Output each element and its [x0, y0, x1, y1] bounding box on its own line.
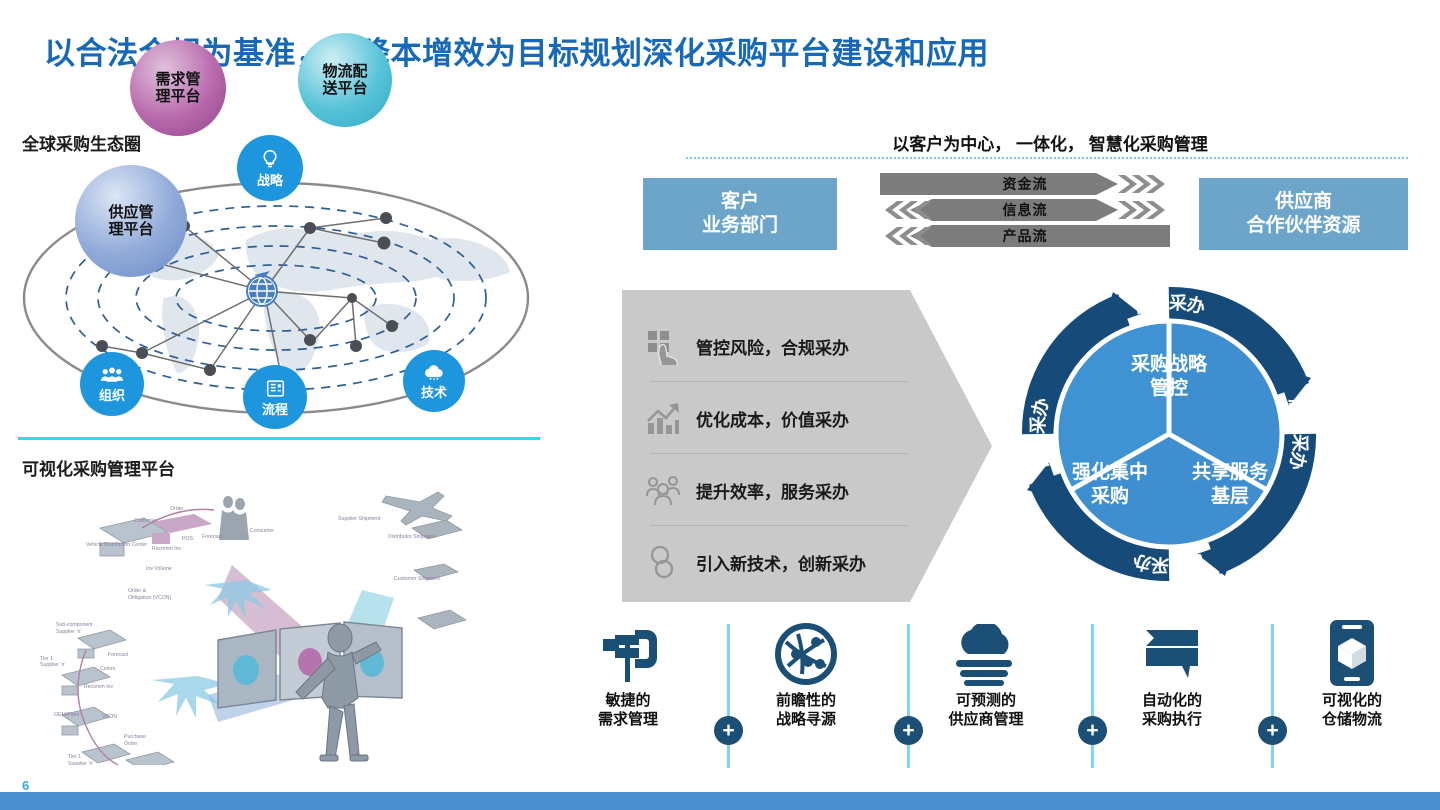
- plus-icon: +: [1078, 716, 1107, 745]
- bubble-line1: 供应管: [108, 204, 153, 221]
- svg-text:Obligation (VCON): Obligation (VCON): [128, 595, 172, 601]
- wheel-outer-label-bottom: 创新采办: [1131, 551, 1208, 577]
- svg-text:Sub-component: Sub-component: [56, 622, 93, 628]
- eco-node-strategy[interactable]: 战略: [237, 135, 303, 201]
- customer-line1: 客户: [721, 190, 759, 214]
- capability-separator: +: [888, 624, 928, 768]
- plug-connect-icon: [595, 612, 661, 686]
- wheel-seg-left-line2: 采购: [1091, 484, 1129, 507]
- footer-bar: [0, 792, 1440, 810]
- capability-label: 可预测的供应商管理: [948, 692, 1023, 730]
- flow-row-product: 产品流: [880, 225, 1170, 247]
- visual-platform-diagram: Order Customer Consumer Forecast POS Veh…: [22, 470, 542, 765]
- plus-icon: +: [894, 716, 923, 745]
- people-group-icon: [644, 471, 682, 509]
- flow-arrows-group: 资金流 信息流: [880, 172, 1170, 252]
- linked-circles-icon: [644, 543, 682, 581]
- capability-label: 自动化的采购执行: [1142, 692, 1202, 730]
- procurement-wheel-diagram: 合规采办 创新采办 服务采办 价值采办 采购战略 管控 强化集中 采购 共享服务: [993, 258, 1345, 610]
- goal-item[interactable]: 提升效率，服务采办: [644, 454, 914, 526]
- svg-text:Customer: Customer: [134, 518, 157, 524]
- svg-text:Order &: Order &: [128, 588, 147, 594]
- svg-text:Supplier 'n': Supplier 'n': [40, 662, 65, 668]
- plus-icon: +: [714, 716, 743, 745]
- svg-text:Customer Shipment: Customer Shipment: [394, 576, 440, 582]
- goal-text: 管控风险，合规采办: [696, 334, 849, 359]
- procurement-goals-panel: 管控风险，合规采办 优化成本，价值采办 提升效率，服务: [622, 290, 992, 602]
- cloud-icon: [423, 364, 445, 383]
- separator-line: [907, 624, 910, 768]
- supplier-line1: 供应商: [1275, 190, 1332, 214]
- page-number: 6: [22, 778, 29, 793]
- svg-text:POS: POS: [182, 536, 193, 542]
- visual-platform-svg: Order Customer Consumer Forecast POS Veh…: [22, 470, 542, 765]
- capability-item[interactable]: 敏捷的需求管理: [564, 612, 692, 772]
- flow-label: 信息流: [880, 199, 1170, 221]
- eco-node-technology[interactable]: 技术: [403, 350, 465, 412]
- svg-text:Consumer: Consumer: [250, 528, 274, 534]
- capability-separator: +: [1072, 624, 1112, 768]
- svg-text:Tier 1: Tier 1: [68, 754, 81, 760]
- capability-label: 敏捷的需求管理: [598, 692, 658, 730]
- right-section-divider: [686, 157, 1408, 159]
- eco-node-label: 流程: [262, 403, 288, 416]
- separator-line: [727, 624, 730, 768]
- click-grid-icon: [644, 327, 682, 365]
- svg-text:Forecast: Forecast: [108, 652, 129, 658]
- separator-line: [1091, 624, 1094, 768]
- svg-text:Supplier 'n': Supplier 'n': [56, 629, 81, 635]
- globe-network-icon: [774, 612, 838, 686]
- separator-line: [1271, 624, 1274, 768]
- bubble-logistics-platform[interactable]: 物流配 送平台: [298, 33, 392, 127]
- svg-text:Purchase: Purchase: [124, 734, 146, 740]
- capabilities-row: 敏捷的需求管理 前瞻性的战略寻源: [560, 612, 1420, 772]
- bubble-line2: 送平台: [322, 80, 367, 97]
- eco-node-label: 组织: [99, 389, 125, 402]
- lightbulb-icon: [260, 149, 280, 171]
- chat-exchange-icon: [1138, 612, 1206, 686]
- svg-text:Vehicle Distribution Center: Vehicle Distribution Center: [86, 542, 147, 548]
- bubble-demand-platform[interactable]: 需求管 理平台: [130, 40, 226, 136]
- customer-box[interactable]: 客户 业务部门: [643, 178, 837, 250]
- supplier-line2: 合作伙伴资源: [1246, 214, 1360, 238]
- customer-line2: 业务部门: [702, 214, 778, 238]
- goal-text: 提升效率，服务采办: [696, 478, 849, 503]
- bubble-line2: 理平台: [155, 88, 200, 105]
- document-icon: [266, 379, 285, 400]
- supply-chain-nodes: [62, 518, 174, 765]
- svg-text:Recomm Inv: Recomm Inv: [84, 684, 114, 690]
- goal-text: 引入新技术，创新采办: [696, 550, 866, 575]
- wheel-seg-top-line2: 管控: [1150, 376, 1188, 399]
- goal-item[interactable]: 优化成本，价值采办: [644, 382, 914, 454]
- plus-icon: +: [1258, 716, 1287, 745]
- goal-item[interactable]: 引入新技术，创新采办: [644, 526, 914, 598]
- svg-text:Recomm Inv: Recomm Inv: [152, 546, 182, 552]
- svg-text:VCON: VCON: [102, 714, 117, 720]
- bubble-line2: 理平台: [108, 221, 153, 238]
- capability-separator: +: [708, 624, 748, 768]
- svg-text:Forecast: Forecast: [202, 534, 223, 540]
- svg-text:Order: Order: [124, 741, 138, 747]
- svg-text:Order: Order: [170, 506, 184, 512]
- consumer-figures: [219, 496, 249, 540]
- capability-item[interactable]: 前瞻性的战略寻源: [742, 612, 870, 772]
- eco-node-organization[interactable]: 组织: [80, 352, 144, 416]
- capability-item[interactable]: 可预测的供应商管理: [922, 612, 1050, 772]
- capability-separator: +: [1252, 624, 1292, 768]
- svg-text:Distributor Shipment: Distributor Shipment: [388, 534, 436, 540]
- svg-text:Supplier Shipment: Supplier Shipment: [338, 516, 381, 522]
- goal-item[interactable]: 管控风险，合规采办: [644, 310, 914, 382]
- people-icon: [101, 366, 123, 386]
- capability-label: 可视化的仓储物流: [1322, 692, 1382, 730]
- goal-text: 优化成本，价值采办: [696, 406, 849, 431]
- section-divider: [18, 437, 540, 440]
- wheel-seg-left-line1: 强化集中: [1072, 460, 1148, 483]
- capability-item[interactable]: 可视化的仓储物流: [1288, 612, 1416, 772]
- cloud-lines-icon: [950, 612, 1022, 686]
- svg-text:Inv Volume: Inv Volume: [146, 566, 172, 572]
- monitor-wall: [218, 622, 402, 708]
- flow-row-information: 信息流: [880, 199, 1170, 221]
- svg-text:Comm: Comm: [100, 666, 115, 672]
- mobile-box-icon: [1326, 612, 1378, 686]
- svg-text:Supplier 'n': Supplier 'n': [68, 761, 93, 765]
- bar-chart-up-icon: [644, 399, 682, 437]
- wheel-seg-right-line1: 共享服务: [1192, 460, 1269, 483]
- capability-label: 前瞻性的战略寻源: [776, 692, 836, 730]
- bubble-line1: 物流配: [322, 63, 367, 80]
- flow-label: 产品流: [880, 225, 1170, 247]
- wheel-seg-right-line2: 基层: [1210, 484, 1249, 507]
- svg-text:OEM/Plant: OEM/Plant: [54, 712, 80, 718]
- capability-item[interactable]: 自动化的采购执行: [1108, 612, 1236, 772]
- supplier-box[interactable]: 供应商 合作伙伴资源: [1199, 178, 1408, 250]
- flow-row-funds: 资金流: [880, 173, 1170, 195]
- bubble-supply-platform[interactable]: 供应管 理平台: [75, 165, 187, 277]
- eco-node-label: 战略: [257, 174, 283, 187]
- eco-node-label: 技术: [421, 386, 447, 399]
- flow-label: 资金流: [880, 173, 1170, 195]
- slide-canvas: 以合法合规为基准，以降本增效为目标规划深化采购平台建设和应用 全球采购生态圈: [0, 0, 1440, 810]
- eco-node-process[interactable]: 流程: [243, 365, 307, 429]
- bubble-line1: 需求管: [155, 71, 200, 88]
- right-section-title: 以客户为中心， 一体化， 智慧化采购管理: [690, 130, 1410, 155]
- wheel-seg-top-line1: 采购战略: [1131, 352, 1208, 375]
